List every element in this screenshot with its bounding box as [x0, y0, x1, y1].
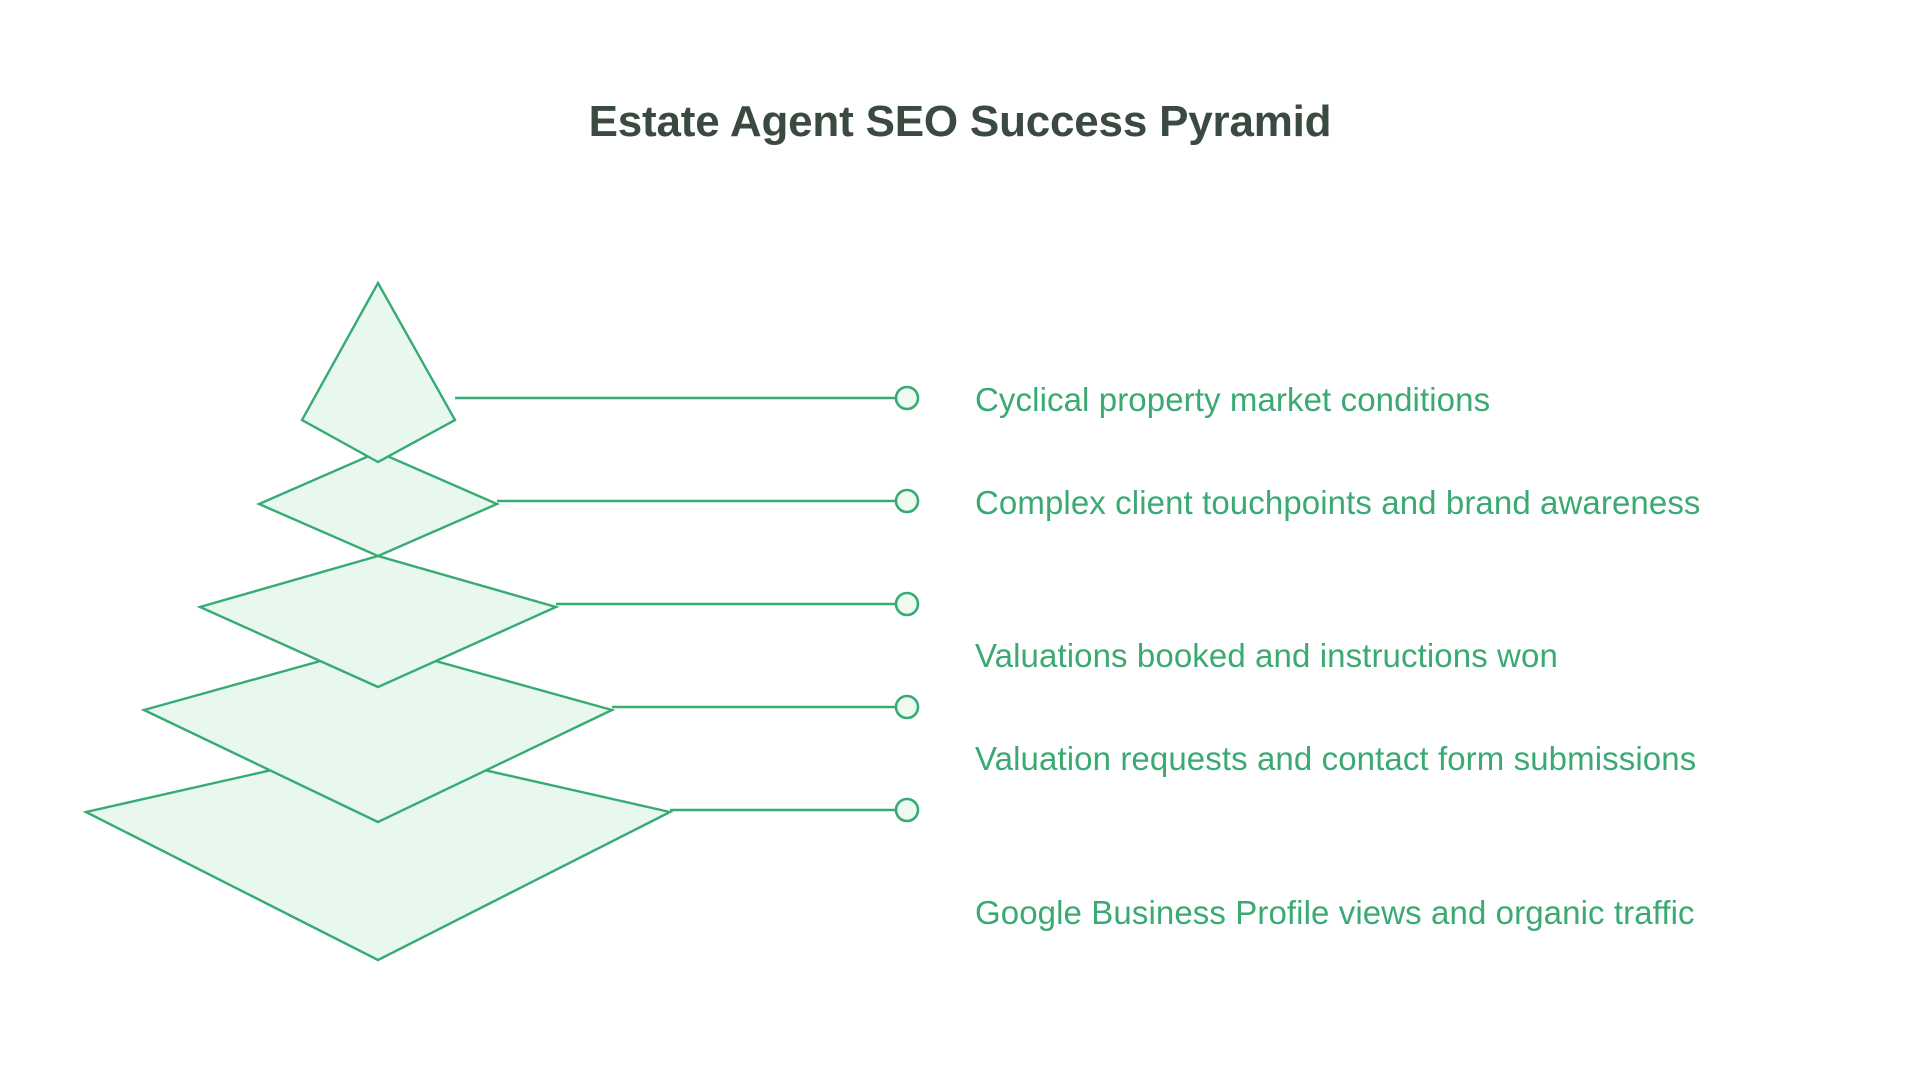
pyramid-label-list: Cyclical property market conditions Comp… [0, 0, 1920, 1080]
pyramid-infographic-canvas: Estate Agent SEO Success Pyramid [0, 0, 1920, 1080]
pyramid-label-4[interactable]: Valuation requests and contact form subm… [975, 737, 1835, 781]
pyramid-label-1[interactable]: Cyclical property market conditions [975, 378, 1835, 422]
pyramid-label-2[interactable]: Complex client touchpoints and brand awa… [975, 481, 1835, 525]
pyramid-label-3[interactable]: Valuations booked and instructions won [975, 634, 1835, 678]
pyramid-label-5[interactable]: Google Business Profile views and organi… [975, 891, 1835, 935]
